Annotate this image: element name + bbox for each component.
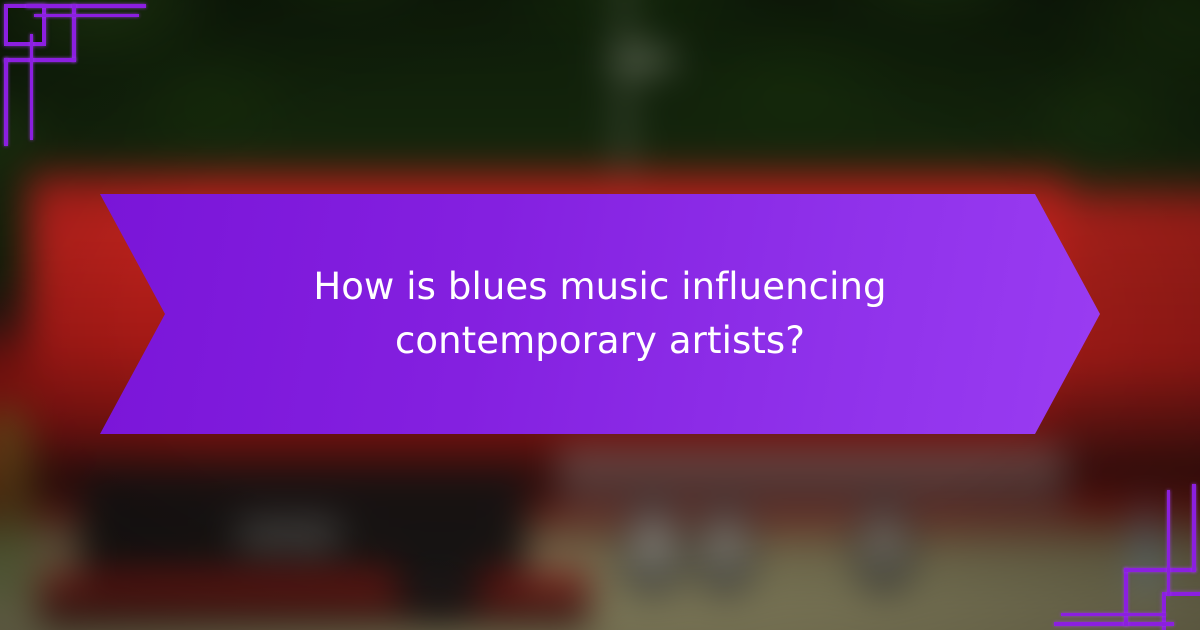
- corner-line-inner-horizontal: [1061, 613, 1166, 616]
- corner-line-inner-vertical: [1167, 490, 1170, 596]
- headline-text: How is blues music influencing contempor…: [180, 194, 1020, 434]
- corner-square-top-left: [4, 4, 46, 46]
- corner-line-outer-elbow-horizontal: [4, 58, 76, 62]
- corner-line-outer-elbow-vertical: [1124, 568, 1128, 626]
- corner-line-outer-horizontal: [1054, 622, 1174, 626]
- social-card: How is blues music influencing contempor…: [0, 0, 1200, 630]
- corner-line-outer-elbow-horizontal: [1124, 568, 1196, 572]
- corner-line-outer-vertical: [4, 58, 8, 146]
- corner-line-outer-horizontal: [26, 4, 146, 8]
- corner-line-inner-vertical: [30, 34, 33, 140]
- corner-line-outer-vertical: [1192, 484, 1196, 572]
- corner-line-outer-elbow-vertical: [72, 4, 76, 62]
- corner-line-inner-horizontal: [34, 14, 139, 17]
